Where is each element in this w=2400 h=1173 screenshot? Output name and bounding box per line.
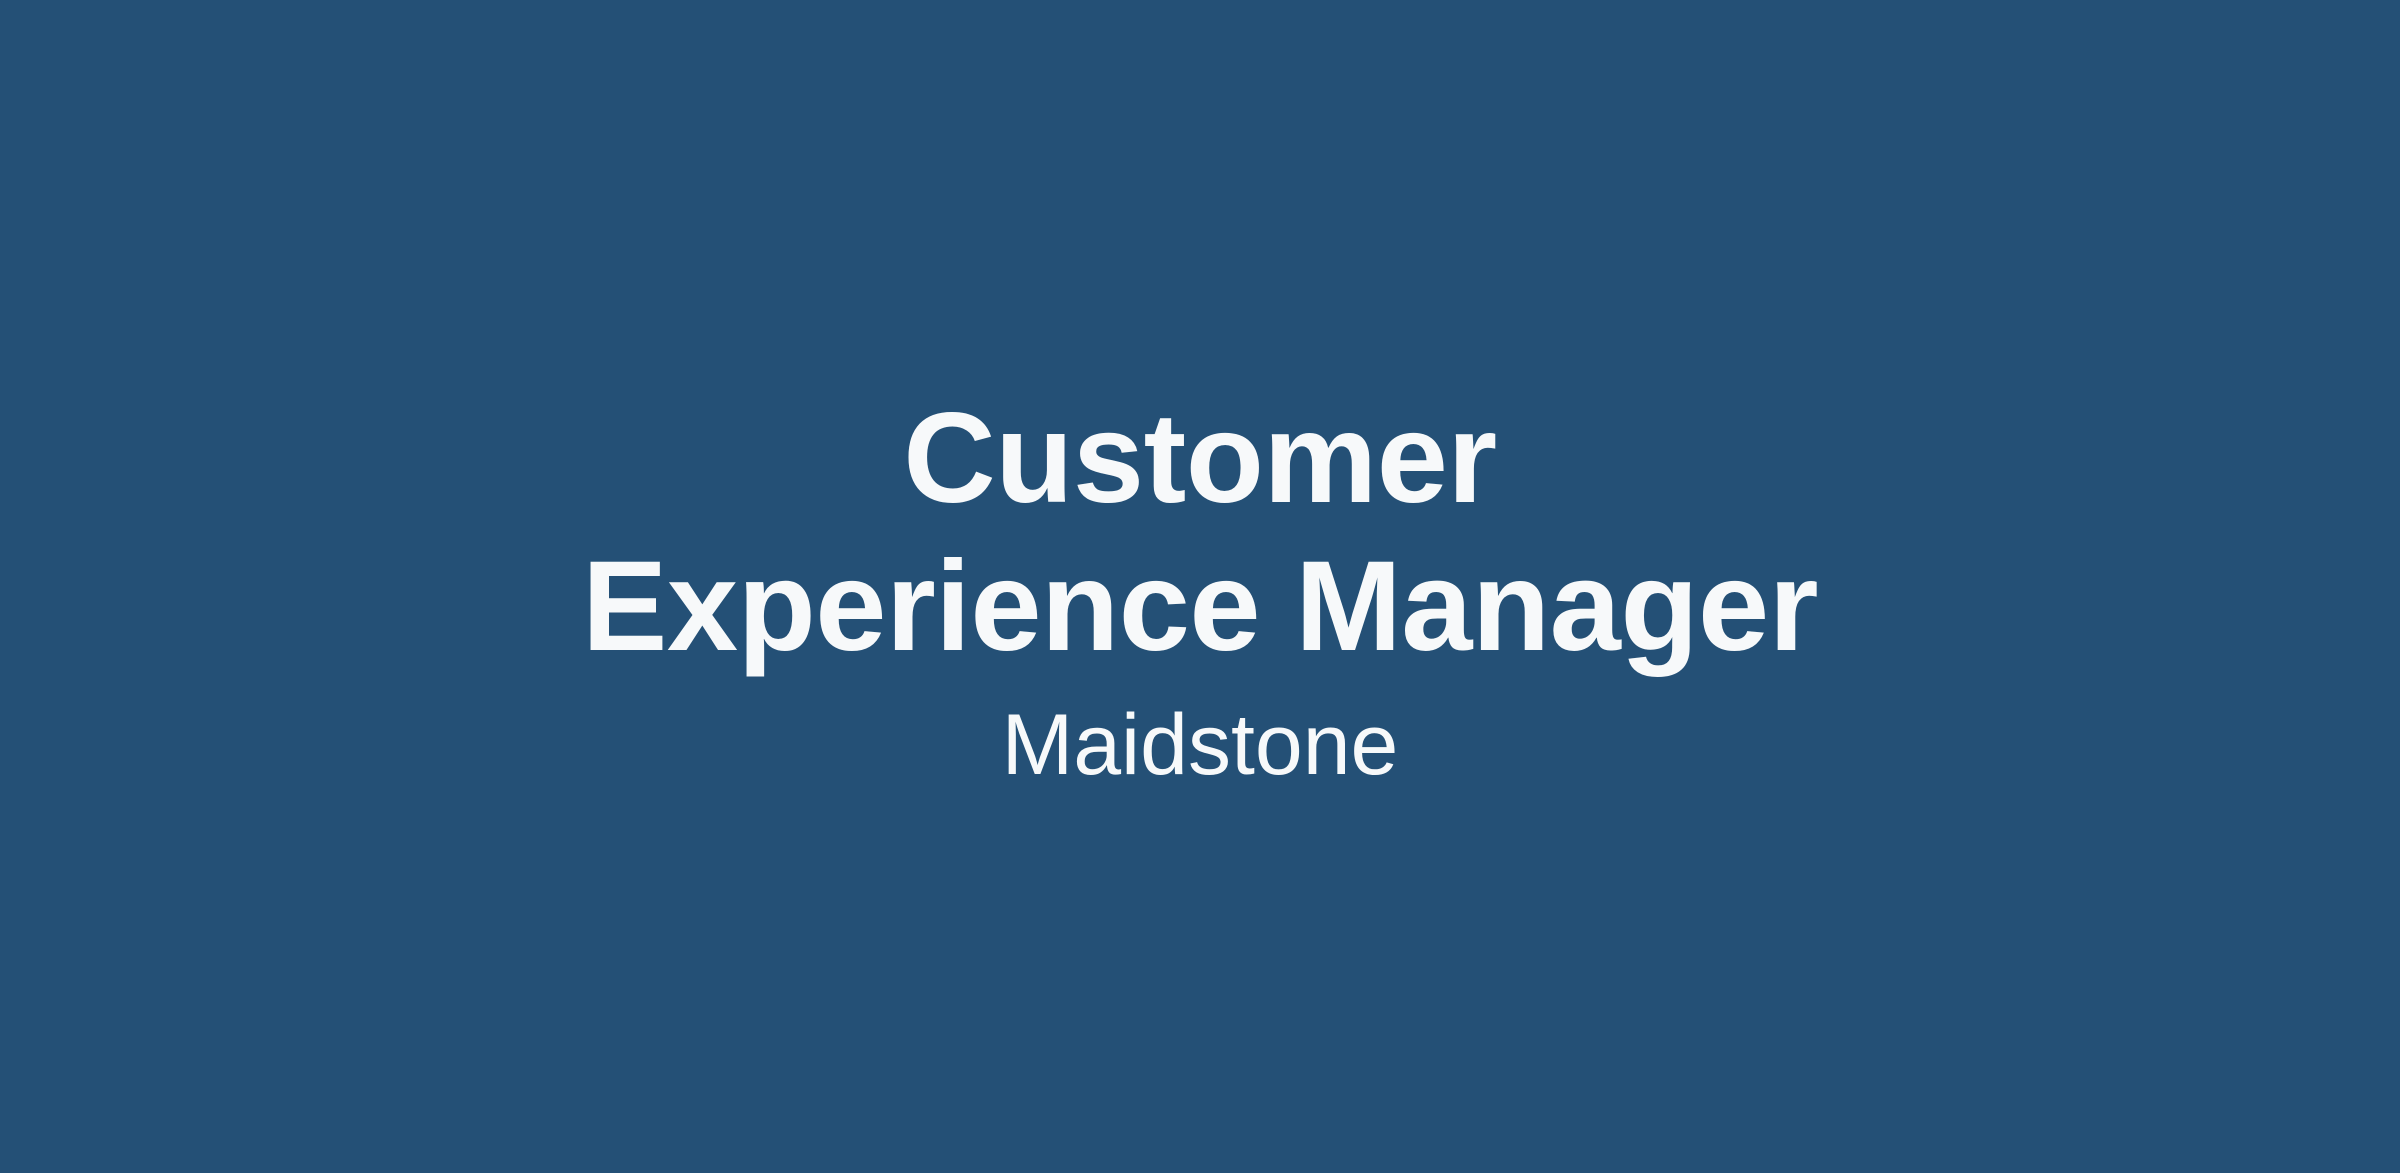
job-card-text-block: Customer Experience Manager Maidstone — [0, 0, 2400, 795]
job-posting-card: Customer Experience Manager Maidstone — [0, 0, 2400, 1173]
job-location: Maidstone — [1002, 695, 1399, 795]
page-title: Customer Experience Manager — [570, 385, 1830, 681]
